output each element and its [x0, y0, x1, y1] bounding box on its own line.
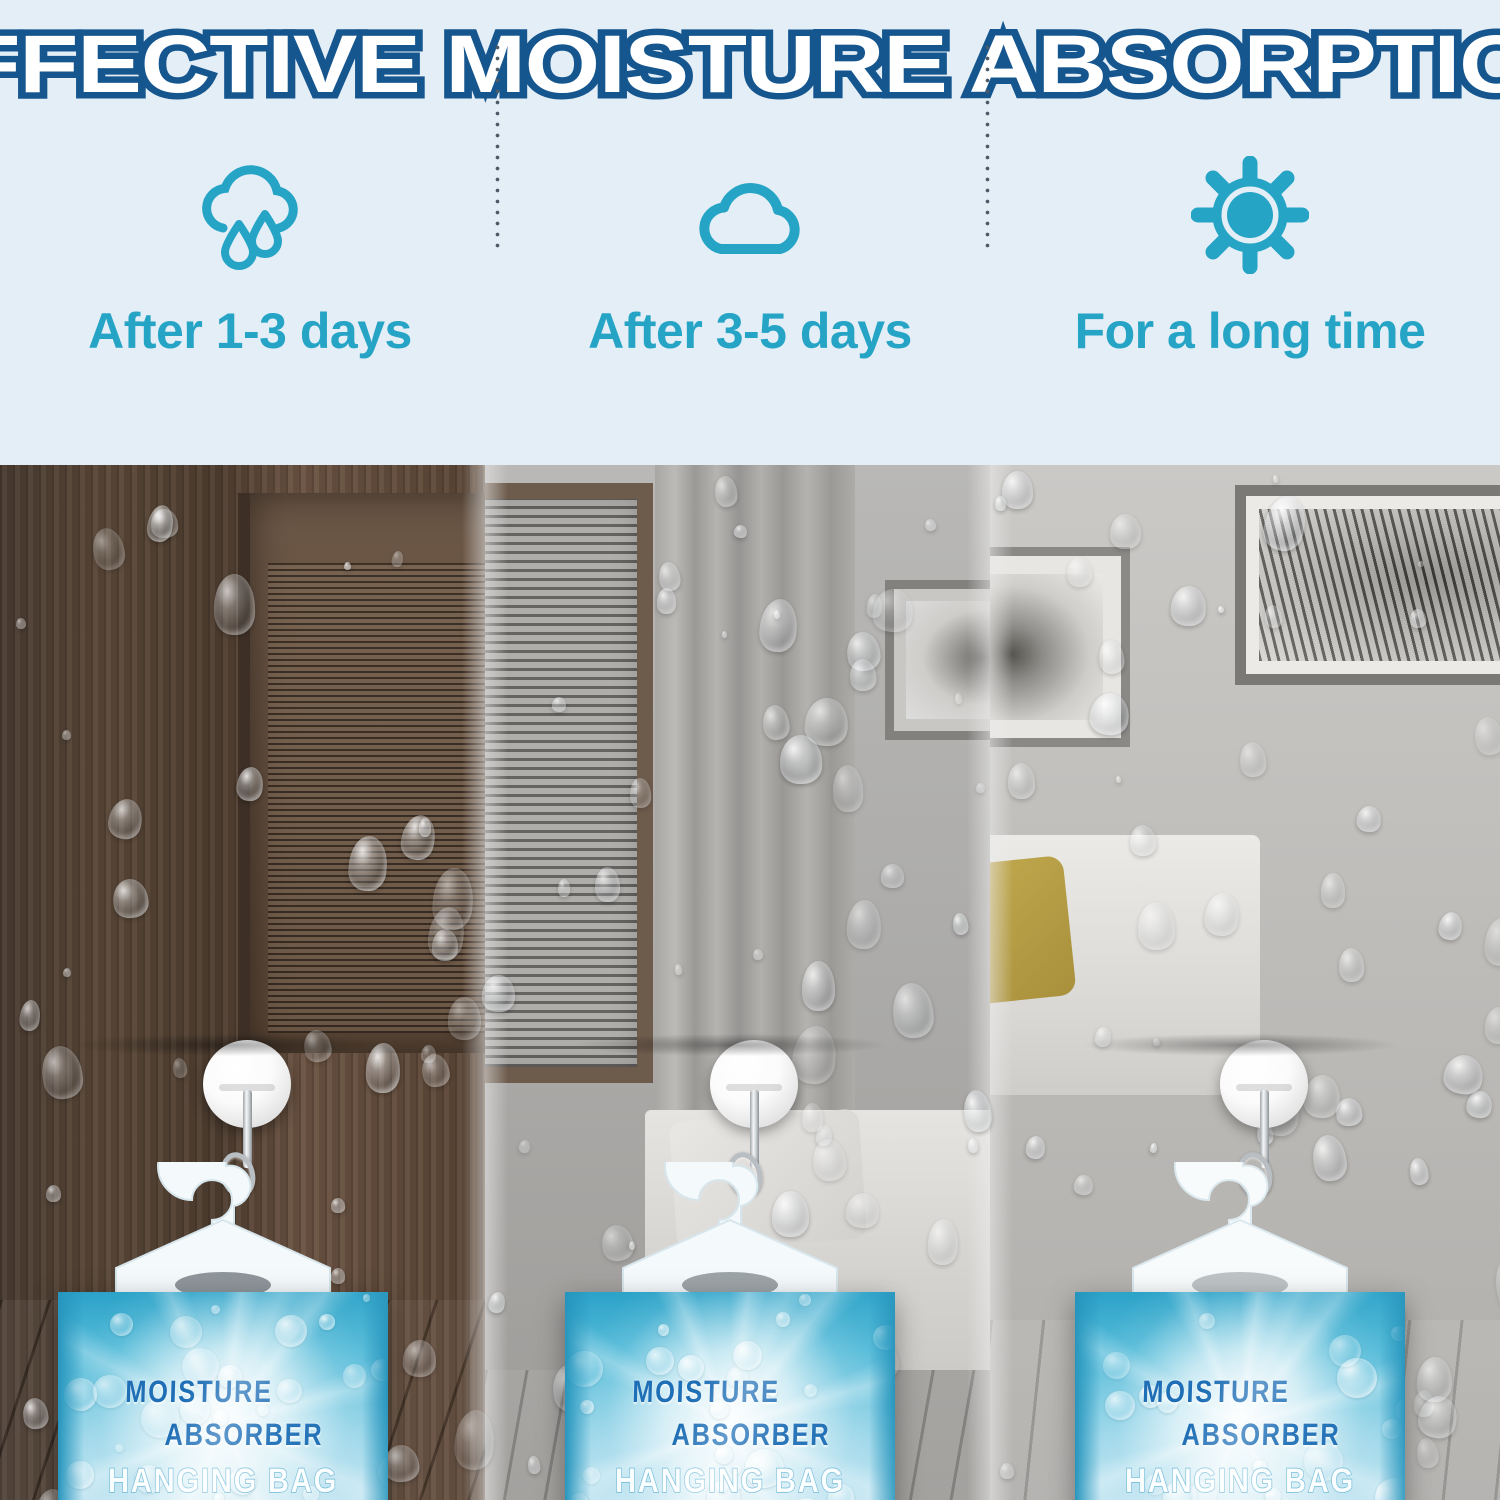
photo-strip: MOISTURE ABSORBER HANGING BAG Please rep… [0, 465, 1500, 1500]
door-screen [268, 563, 496, 1033]
bag-shadow [1085, 1034, 1395, 1056]
bag-branding: MOISTURE ABSORBER HANGING BAG [1075, 1376, 1405, 1498]
brand-line-2: ABSORBER [125, 1419, 362, 1450]
plastic-hanger [1075, 1162, 1405, 1307]
brand-line-3: HANGING BAG [588, 1464, 872, 1498]
plastic-hanger [58, 1162, 388, 1307]
moisture-absorber-bag: MOISTURE ABSORBER HANGING BAG Please rep… [565, 1292, 895, 1500]
moisture-absorber-bag: MOISTURE ABSORBER HANGING BAG Please rep… [1075, 1292, 1405, 1500]
feature-for-a-long-time: For a long time [1000, 150, 1500, 430]
bag-branding: MOISTURE ABSORBER HANGING BAG [565, 1376, 895, 1498]
feature-after-3-5-days: After 3-5 days [500, 150, 1000, 430]
top-banner: EFFECTIVE MOISTURE ABSORPTION After 1-3 … [0, 0, 1500, 465]
brand-line-3: HANGING BAG [81, 1464, 365, 1498]
water-bubble [1199, 1313, 1215, 1329]
water-bubble [646, 1347, 673, 1374]
bag-shadow [68, 1034, 378, 1056]
feature-label: After 1-3 days [88, 302, 412, 360]
feature-label: For a long time [1075, 302, 1426, 360]
brand-line-2: ABSORBER [1142, 1419, 1379, 1450]
page-title: EFFECTIVE MOISTURE ABSORPTION [0, 18, 1500, 112]
brand-line-2: ABSORBER [632, 1419, 869, 1450]
bag-branding: MOISTURE ABSORBER HANGING BAG [58, 1376, 388, 1498]
feature-row: After 1-3 days After 3-5 days [0, 150, 1500, 430]
water-bubble [1329, 1335, 1361, 1367]
brand-line-3: HANGING BAG [1098, 1464, 1382, 1498]
window-blinds [485, 499, 637, 1067]
framed-picture [885, 580, 1005, 740]
brand-line-1: MOISTURE [58, 1376, 354, 1407]
water-bubble [319, 1314, 335, 1330]
plastic-hanger [565, 1162, 895, 1307]
water-bubble [170, 1316, 202, 1348]
window [485, 483, 653, 1083]
water-bubble [275, 1315, 307, 1347]
product-infographic: EFFECTIVE MOISTURE ABSORPTION After 1-3 … [0, 0, 1500, 1500]
water-bubble [776, 1312, 790, 1326]
feature-label: After 3-5 days [588, 302, 912, 360]
brand-line-1: MOISTURE [565, 1376, 861, 1407]
feature-after-1-3-days: After 1-3 days [0, 150, 500, 430]
moisture-absorber-bag: MOISTURE ABSORBER HANGING BAG Please rep… [58, 1292, 388, 1500]
yellow-pillow [990, 855, 1077, 1015]
door-panel [238, 493, 500, 1053]
water-bubble [658, 1324, 669, 1335]
framed-picture-large [1235, 485, 1500, 685]
brand-line-1: MOISTURE [1075, 1376, 1371, 1407]
framed-picture-small [990, 547, 1130, 747]
feature-divider [495, 42, 500, 254]
feature-divider [985, 42, 990, 254]
cloud-icon [687, 150, 813, 280]
sun-icon [1191, 150, 1309, 280]
bag-shadow [575, 1034, 885, 1056]
water-bubble [799, 1294, 811, 1306]
rain-cloud-icon [187, 150, 313, 280]
